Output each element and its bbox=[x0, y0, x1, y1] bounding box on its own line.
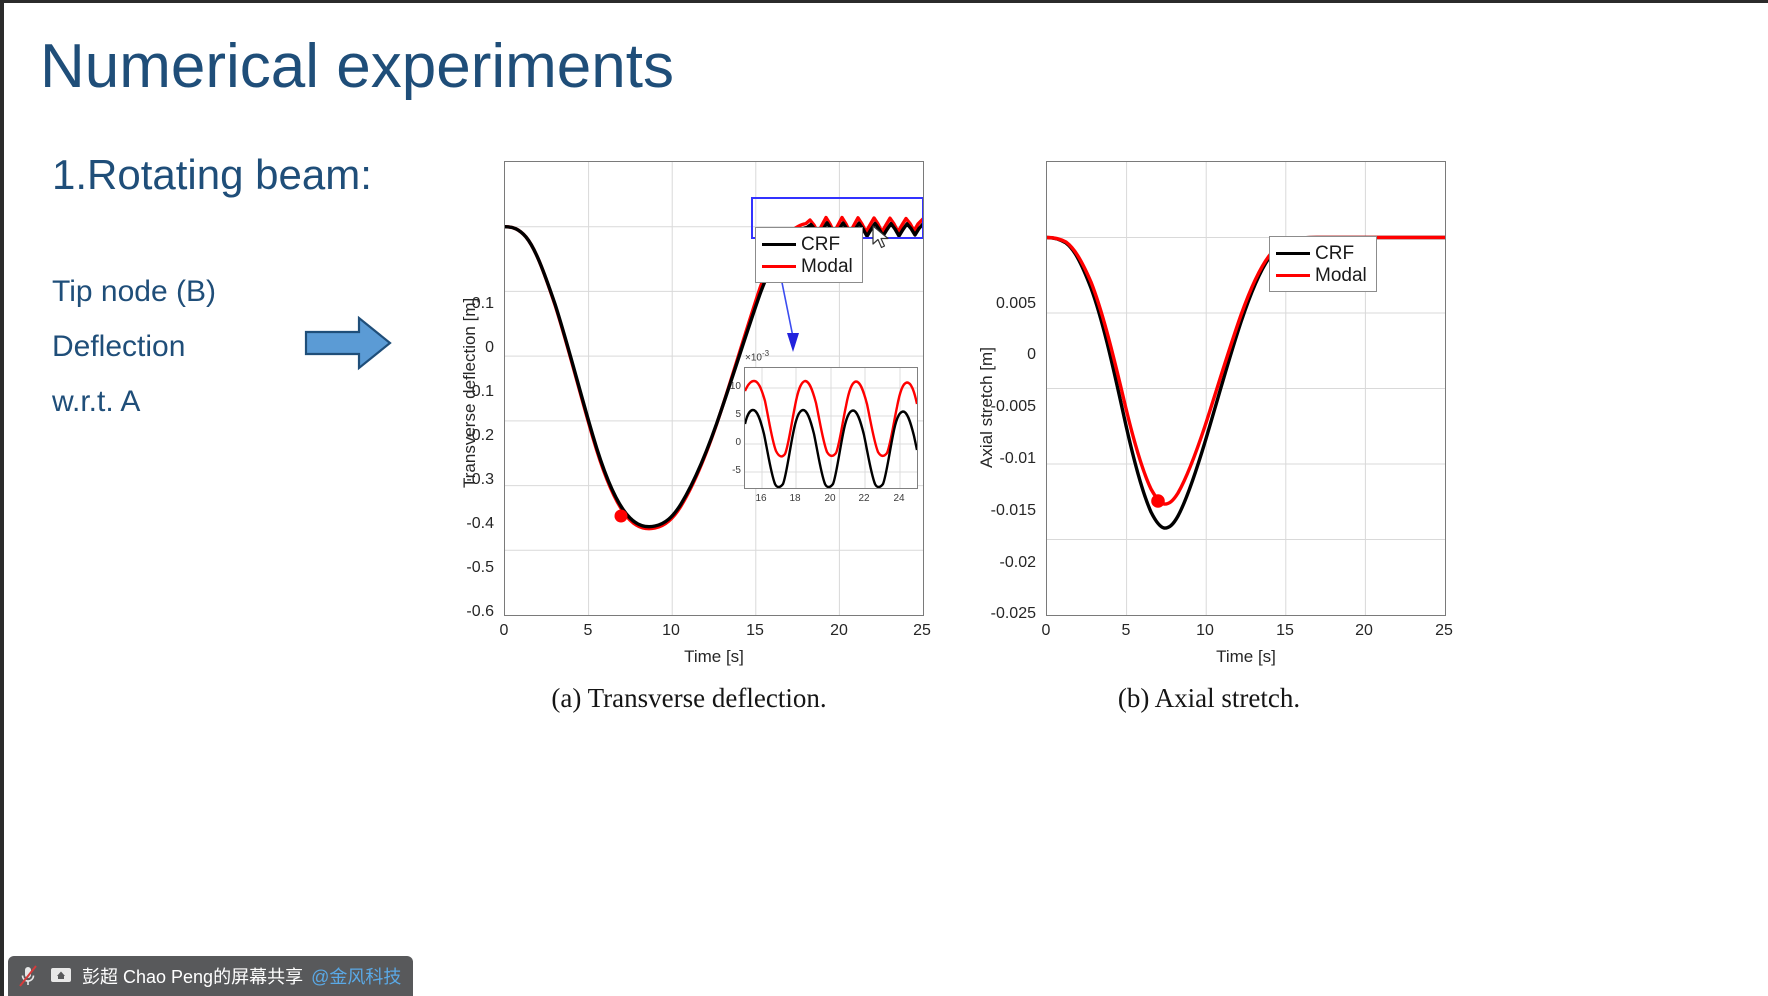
legend-swatch-crf bbox=[1276, 252, 1310, 255]
chart-transverse-deflection: Transverse deflection [m] 0.1 0 -0.1 -0.… bbox=[444, 143, 934, 603]
taskbar-share-label: 彭超 Chao Peng的屏幕共享 bbox=[82, 963, 303, 989]
inset-y-tick: -5 bbox=[717, 465, 741, 476]
x-tick-label: 20 bbox=[819, 622, 859, 640]
x-tick-label: 15 bbox=[1265, 622, 1305, 640]
bullet-wrt-a: w.r.t. A bbox=[52, 385, 140, 419]
y-tick-label: 0 bbox=[444, 339, 494, 357]
legend-swatch-modal bbox=[1276, 274, 1310, 277]
x-tick-label: 10 bbox=[651, 622, 691, 640]
x-tick-label: 5 bbox=[568, 622, 608, 640]
y-tick-label: -0.015 bbox=[964, 502, 1036, 520]
x-tick-label: 15 bbox=[735, 622, 775, 640]
caption-b: (b) Axial stretch. bbox=[1024, 683, 1394, 714]
taskbar-handle-label: @金风科技 bbox=[311, 963, 401, 989]
microphone-muted-icon[interactable] bbox=[18, 965, 38, 987]
slide-canvas: Numerical experiments 1.Rotating beam: T… bbox=[0, 0, 1768, 996]
legend-swatch-modal bbox=[762, 265, 796, 268]
legend-label-crf: CRF bbox=[1315, 244, 1354, 263]
y-axis-label: Axial stretch [m] bbox=[977, 188, 997, 468]
y-tick-label: -0.2 bbox=[444, 427, 494, 445]
x-tick-label: 25 bbox=[1424, 622, 1464, 640]
inset-svg bbox=[745, 368, 917, 488]
y-tick-label: -0.01 bbox=[964, 450, 1036, 468]
y-tick-label: -0.5 bbox=[444, 559, 494, 577]
inset-y-tick: 10 bbox=[717, 381, 741, 392]
x-tick-label: 25 bbox=[902, 622, 942, 640]
inset-x-tick: 22 bbox=[854, 493, 874, 504]
min-marker bbox=[1151, 494, 1165, 508]
legend-entry-crf: CRF bbox=[762, 233, 853, 255]
y-tick-label: -0.025 bbox=[964, 605, 1036, 623]
x-tick-label: 0 bbox=[484, 622, 524, 640]
x-tick-label: 0 bbox=[1026, 622, 1066, 640]
y-tick-label: -0.02 bbox=[964, 554, 1036, 572]
inset-y-tick: 5 bbox=[717, 409, 741, 420]
y-tick-label: -0.3 bbox=[444, 471, 494, 489]
screen-share-taskbar[interactable]: 彭超 Chao Peng的屏幕共享 @金风科技 bbox=[8, 956, 413, 996]
plot-area: CRF Modal bbox=[1046, 161, 1446, 616]
page-title: Numerical experiments bbox=[40, 31, 674, 102]
inset-x-tick: 20 bbox=[820, 493, 840, 504]
y-tick-label: -0.4 bbox=[444, 515, 494, 533]
y-tick-label: 0 bbox=[964, 346, 1036, 364]
x-tick-label: 20 bbox=[1344, 622, 1384, 640]
caption-a: (a) Transverse deflection. bbox=[504, 683, 874, 714]
inset-y-tick: 0 bbox=[717, 437, 741, 448]
right-arrow-icon bbox=[304, 313, 392, 373]
inset-x-tick: 18 bbox=[785, 493, 805, 504]
inset-exponent-label: ×10-3 bbox=[745, 349, 769, 363]
inset-x-tick: 16 bbox=[751, 493, 771, 504]
legend-entry-crf: CRF bbox=[1276, 242, 1367, 264]
bullet-tip-node: Tip node (B) bbox=[52, 275, 216, 309]
y-tick-label: 0.1 bbox=[444, 295, 494, 313]
y-tick-label: -0.6 bbox=[444, 603, 494, 621]
legend-label-crf: CRF bbox=[801, 235, 840, 254]
y-tick-label: -0.1 bbox=[444, 383, 494, 401]
legend-label-modal: Modal bbox=[1315, 266, 1367, 285]
legend-label-modal: Modal bbox=[801, 257, 853, 276]
legend-entry-modal: Modal bbox=[1276, 264, 1367, 286]
chart-axial-stretch: Axial stretch [m] 0.005 0 -0.005 -0.01 -… bbox=[964, 143, 1454, 603]
x-tick-label: 10 bbox=[1185, 622, 1225, 640]
x-axis-label: Time [s] bbox=[1146, 647, 1346, 667]
legend-entry-modal: Modal bbox=[762, 255, 853, 277]
bullet-deflection: Deflection bbox=[52, 330, 185, 364]
x-tick-label: 5 bbox=[1106, 622, 1146, 640]
inset-plot bbox=[744, 367, 918, 489]
legend[interactable]: CRF Modal bbox=[755, 227, 863, 283]
legend-swatch-crf bbox=[762, 243, 796, 246]
inset-x-tick: 24 bbox=[889, 493, 909, 504]
legend[interactable]: CRF Modal bbox=[1269, 236, 1377, 292]
figure-panel: Transverse deflection [m] 0.1 0 -0.1 -0.… bbox=[444, 143, 1454, 603]
y-tick-label: -0.005 bbox=[964, 398, 1036, 416]
section-heading: 1.Rotating beam: bbox=[52, 151, 372, 199]
screen-share-icon[interactable] bbox=[50, 967, 72, 985]
min-marker bbox=[615, 510, 628, 523]
x-axis-label: Time [s] bbox=[614, 647, 814, 667]
plot-area: ×10-3 10 5 0 -5 16 18 20 22 24 CRF bbox=[504, 161, 924, 616]
plot-svg bbox=[1047, 162, 1445, 615]
y-tick-label: 0.005 bbox=[964, 295, 1036, 313]
